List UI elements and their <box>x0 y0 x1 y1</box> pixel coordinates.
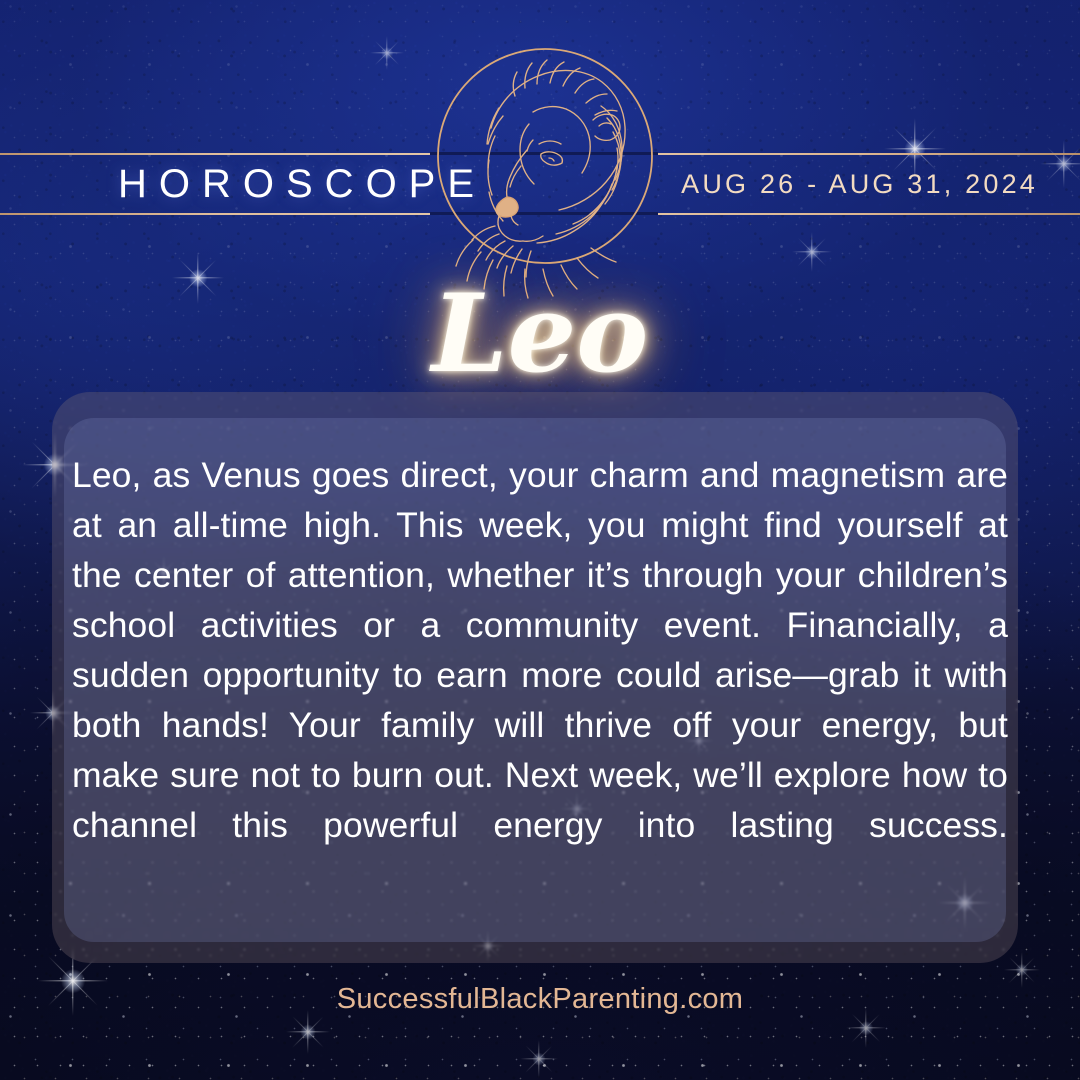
horoscope-reading-text: Leo, as Venus goes direct, your charm an… <box>72 450 1008 900</box>
date-range-label: AUG 26 - AUG 31, 2024 <box>681 166 1038 202</box>
leo-lion-emblem-icon <box>429 40 661 272</box>
horoscope-card: HOROSCOPE AUG 26 - AUG 31, 2024 <box>0 0 1080 1080</box>
site-url-label: SuccessfulBlackParenting.com <box>0 980 1080 1018</box>
zodiac-sign-name: Leo <box>0 272 1080 396</box>
